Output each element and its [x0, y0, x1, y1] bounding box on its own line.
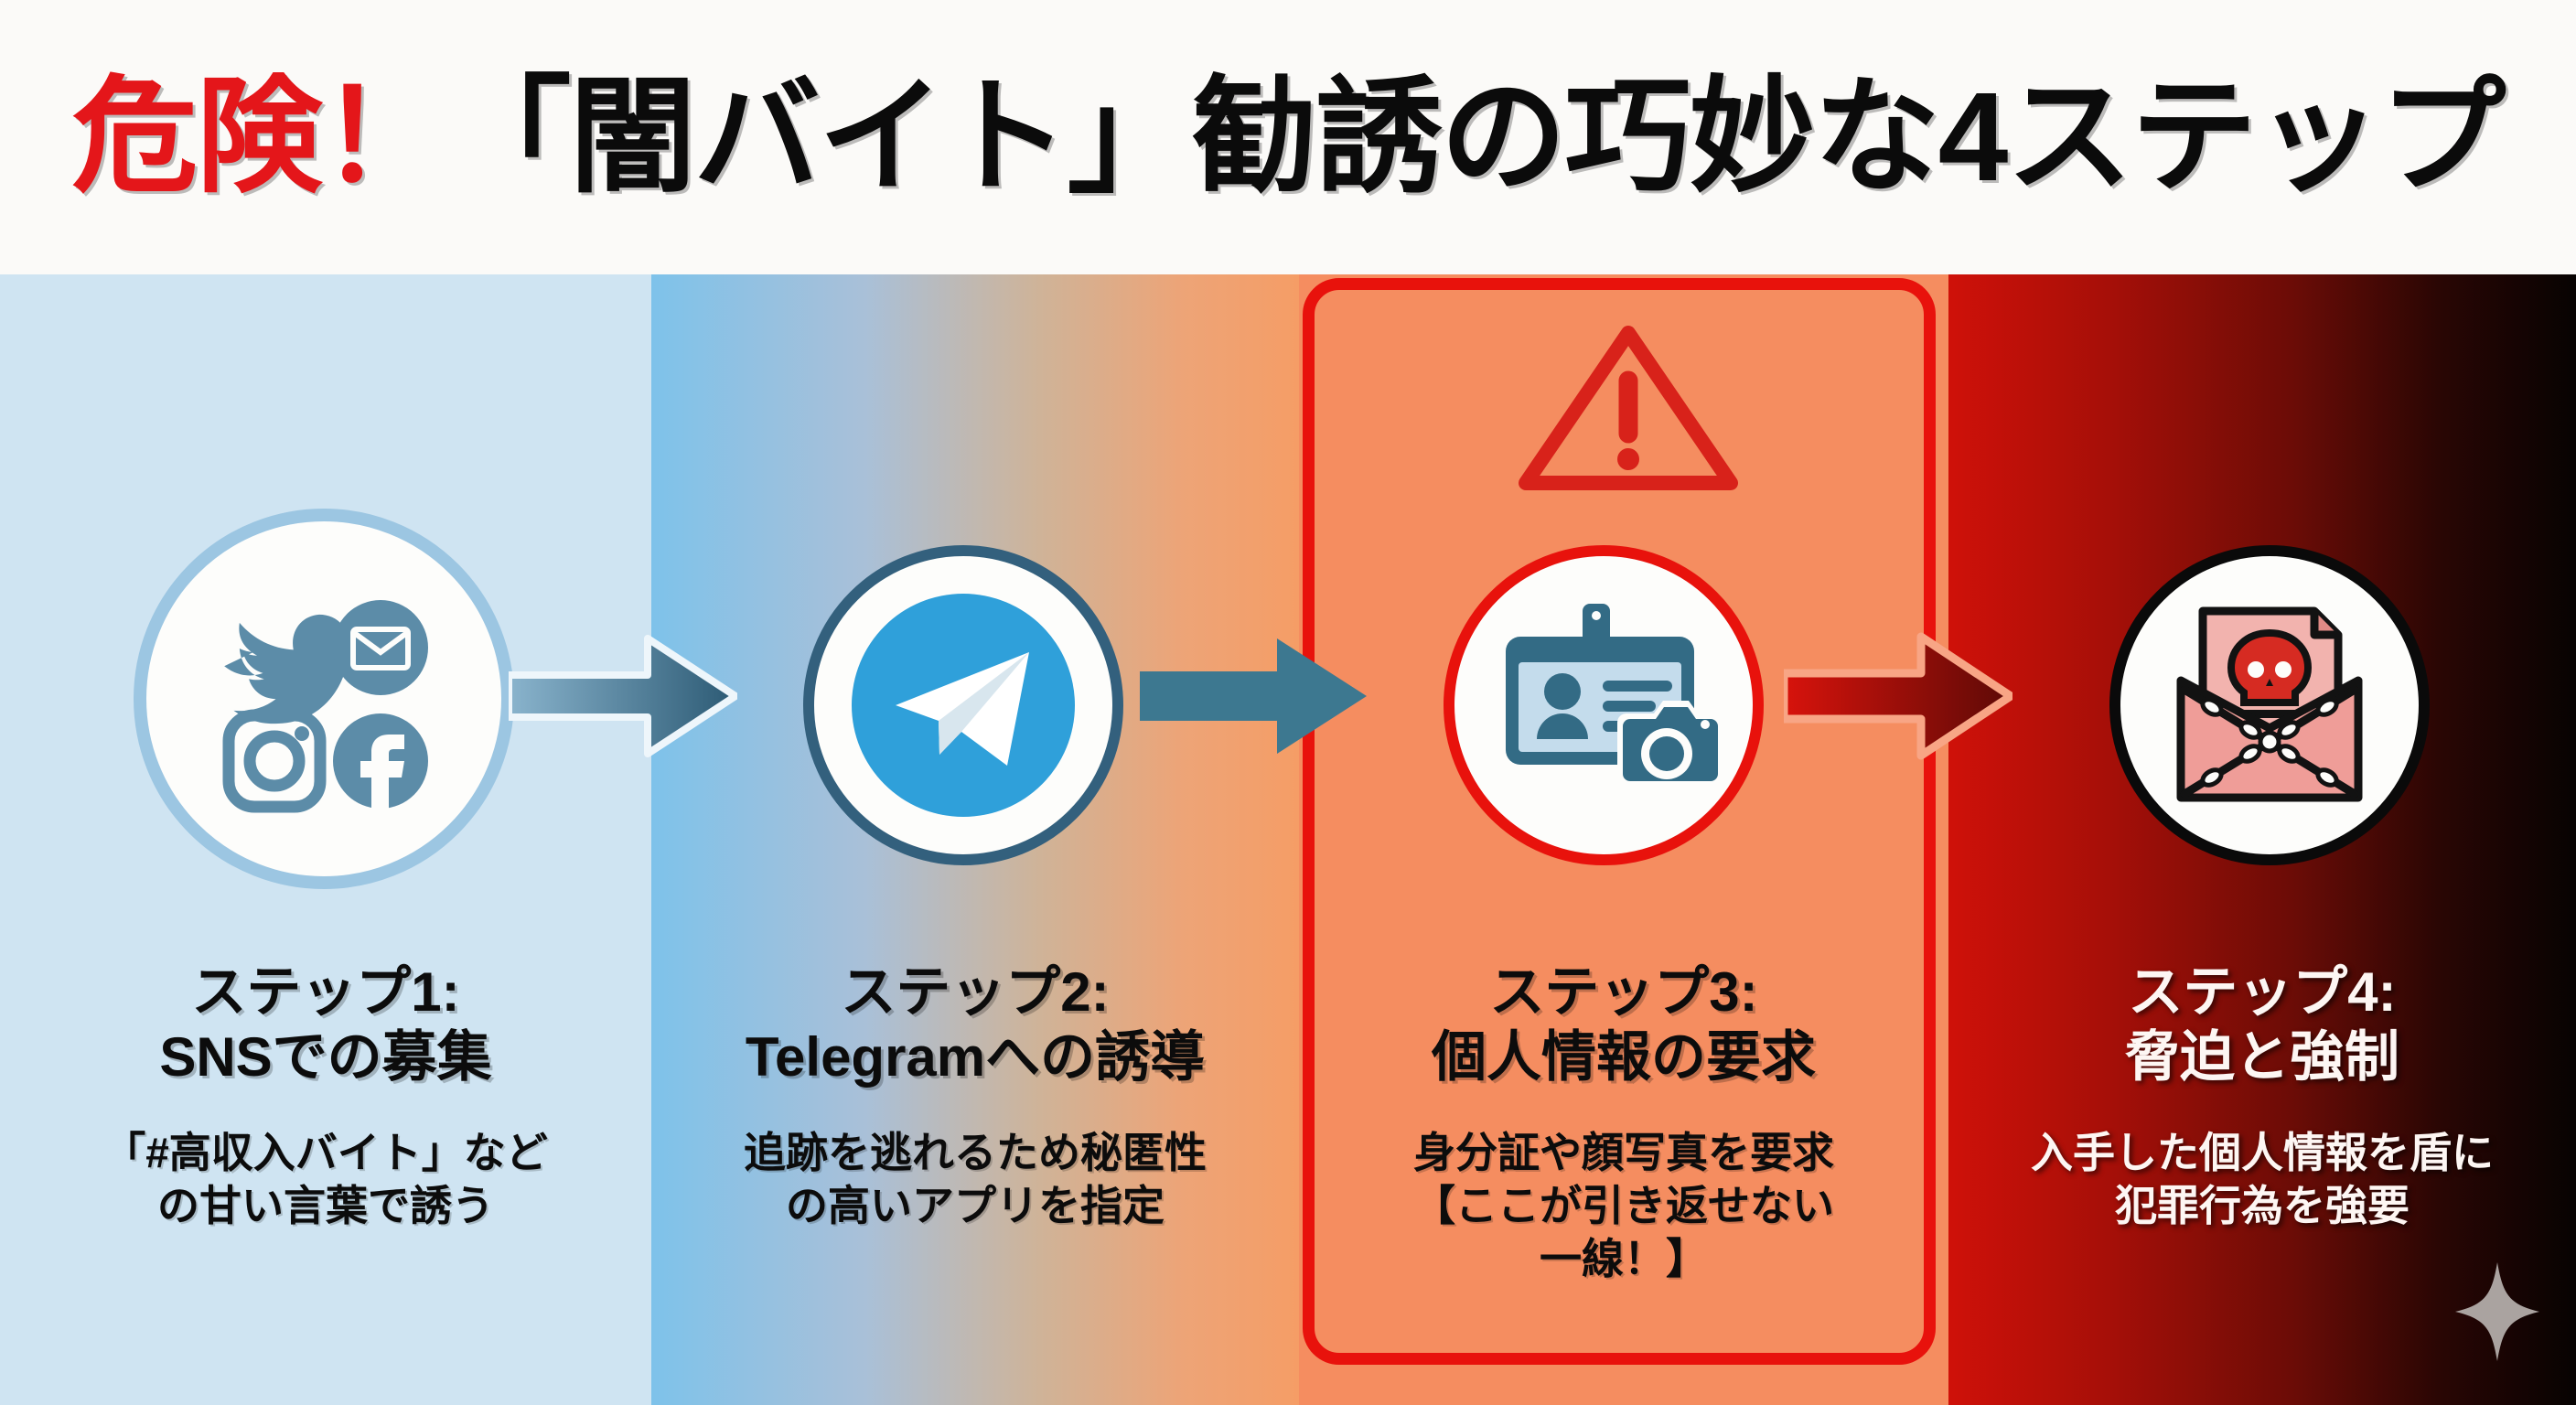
telegram-logo-icon [841, 583, 1086, 828]
step-3-text: ステップ3: 個人情報の要求 身分証や顔写真を要求 【ここが引き返せない 一線！… [1299, 960, 1948, 1285]
header-bar: 危険！「闇バイト」勧誘の巧妙な4ステップ [0, 0, 2576, 274]
instagram-icon [229, 715, 320, 807]
step-3-icon-circle [1444, 545, 1764, 865]
title-danger-word: 危険！ [72, 67, 445, 208]
step-2-text: ステップ2: Telegramへの誘導 追跡を逃れるため秘匿性 の高いアプリを指… [651, 960, 1299, 1233]
id-card-camera-icon [1489, 600, 1718, 810]
step-2-title: ステップ2: Telegramへの誘導 [651, 960, 1299, 1090]
four-point-sparkle-icon [2453, 1260, 2541, 1363]
page-title: 危険！「闇バイト」勧誘の巧妙な4ステップ [72, 74, 2505, 200]
step-1-description: 「#高収入バイト」など の甘い言葉で誘う [0, 1127, 651, 1233]
envelope-icon [333, 600, 428, 695]
step-2-icon-circle [803, 545, 1123, 865]
arrow-step1-to-step2 [509, 627, 737, 765]
step-4-description: 入手した個人情報を盾に 犯罪行為を強要 [1948, 1127, 2576, 1233]
arrow-step3-to-step4 [1784, 627, 2012, 765]
arrow-step2-to-step3 [1140, 631, 1368, 761]
step-1-title: ステップ1: SNSでの募集 [0, 960, 651, 1090]
chained-skull-envelope-icon [2155, 591, 2384, 820]
step-1-text: ステップ1: SNSでの募集 「#高収入バイト」など の甘い言葉で誘う [0, 960, 651, 1233]
step-4-text: ステップ4: 脅迫と強制 入手した個人情報を盾に 犯罪行為を強要 [1948, 960, 2576, 1233]
step-3-title: ステップ3: 個人情報の要求 [1299, 960, 1948, 1090]
warning-triangle-icon [1519, 320, 1738, 494]
title-main-text: 「闇バイト」勧誘の巧妙な4ステップ [445, 67, 2505, 208]
step-4-icon-circle [2109, 545, 2430, 865]
infographic-canvas: 危険！「闇バイト」勧誘の巧妙な4ステップ [0, 0, 2576, 1405]
step-4-title: ステップ4: 脅迫と強制 [1948, 960, 2576, 1090]
facebook-icon [333, 713, 428, 818]
step-2-description: 追跡を逃れるため秘匿性 の高いアプリを指定 [651, 1127, 1299, 1233]
step-3-description: 身分証や顔写真を要求 【ここが引き返せない 一線！】 [1299, 1127, 1948, 1286]
step-1-icon-circle [134, 509, 514, 889]
